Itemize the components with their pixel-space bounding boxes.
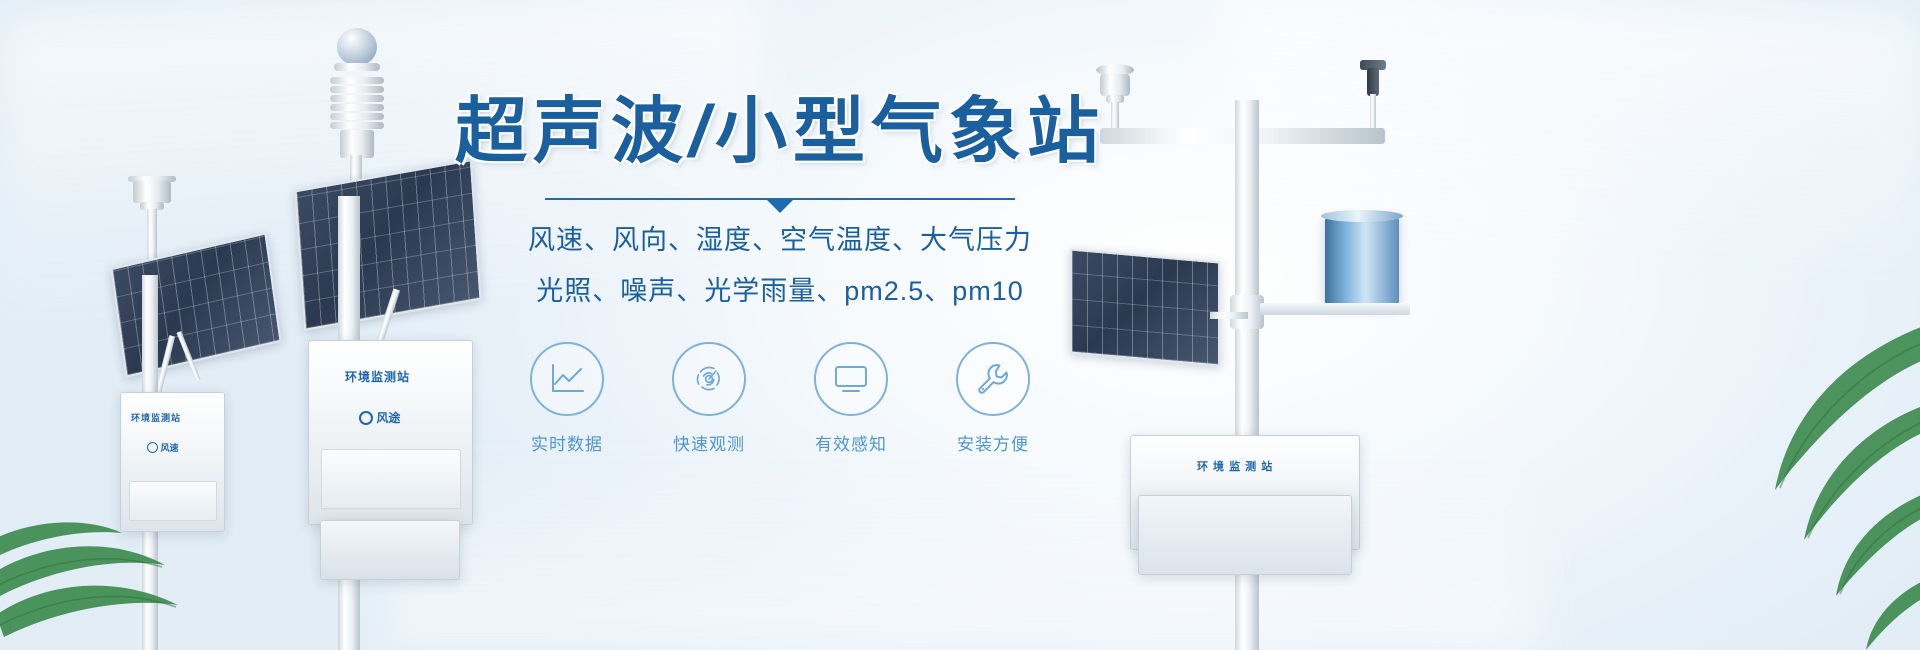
feature-icon-circle <box>956 342 1030 416</box>
cabinet-lower-box <box>320 520 460 580</box>
feature-label: 快速观测 <box>666 430 752 455</box>
title-part-right: 小型气象站 <box>715 92 1105 172</box>
radiation-shield-stack <box>330 86 384 93</box>
subtitle-line-1: 风速、风向、湿度、空气温度、大气压力 <box>430 218 1130 257</box>
feature-list: 实时数据 快速观测 <box>430 342 1130 455</box>
panel-support-arm <box>1210 312 1248 319</box>
feature-item-realtime-data[interactable]: 实时数据 <box>524 342 610 455</box>
cabinet-label: 环境监测站 <box>345 368 410 385</box>
feature-item-easy-install[interactable]: 安装方便 <box>950 342 1036 455</box>
feature-item-fast-observation[interactable]: 快速观测 <box>666 342 752 455</box>
title-part-left: 超声波 <box>455 92 689 172</box>
cabinet-lower-box <box>1138 495 1352 575</box>
tropical-leaf-right <box>1640 290 1920 650</box>
subtitle-line-2: 光照、噪声、光学雨量、pm2.5、pm10 <box>430 269 1130 308</box>
feature-icon-circle <box>530 342 604 416</box>
brand-logo: 风途 <box>359 409 400 426</box>
cabinet-label: 环境监测站 <box>131 411 181 424</box>
optical-rain-gauge-dome <box>337 28 377 66</box>
wind-vane-body <box>1367 68 1379 96</box>
feature-label: 安装方便 <box>950 430 1036 455</box>
brand-logo-text: 风途 <box>376 411 400 425</box>
radiation-shield-stack <box>330 104 384 111</box>
sensor-body <box>340 130 374 158</box>
radiation-shield-stack <box>330 122 384 129</box>
banner-content: 超声波/小型气象站 风速、风向、湿度、空气温度、大气压力 光照、噪声、光学雨量、… <box>430 96 1130 455</box>
title-slash: / <box>689 92 715 172</box>
weather-station-promo-banner: 环境监测站 风速 环境监测站 风途 <box>0 0 1920 650</box>
ultrasonic-sensor-body <box>133 181 171 203</box>
radar-observation-icon <box>690 360 728 398</box>
wrench-icon <box>974 360 1012 398</box>
radiation-shield-stack <box>330 113 384 120</box>
line-chart-icon <box>548 362 586 396</box>
rain-gauge-shelf <box>1260 303 1410 315</box>
radiation-shield-stack <box>330 77 384 84</box>
feature-item-effective-sensing[interactable]: 有效感知 <box>808 342 894 455</box>
rain-gauge-collar <box>334 63 380 71</box>
tropical-leaf-left <box>0 425 240 650</box>
cabinet-door-line <box>321 449 461 509</box>
radiation-shield-stack <box>330 95 384 102</box>
feature-label: 有效感知 <box>808 430 894 455</box>
monitor-icon <box>832 363 870 395</box>
solar-panel <box>110 232 281 377</box>
page-title: 超声波/小型气象站 <box>430 96 1130 168</box>
rain-gauge-bucket <box>1325 215 1399 307</box>
rain-gauge-rim <box>1321 210 1403 222</box>
title-divider <box>545 198 1015 200</box>
cabinet-label: 环 境 监 测 站 <box>1197 458 1273 474</box>
feature-label: 实时数据 <box>524 430 610 455</box>
feature-icon-circle <box>672 342 746 416</box>
feature-icon-circle <box>814 342 888 416</box>
